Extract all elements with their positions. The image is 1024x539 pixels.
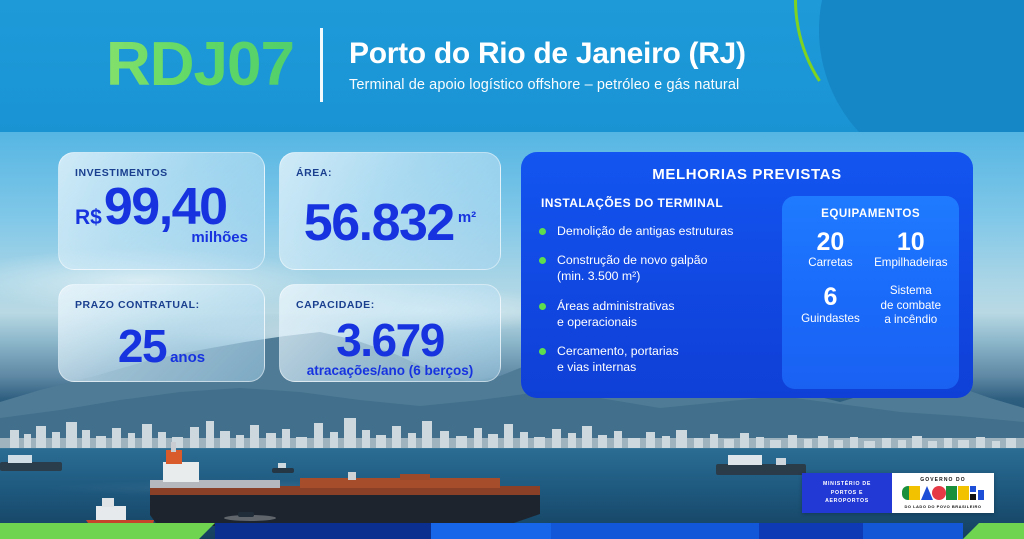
improvements-title: MELHORIAS PREVISTAS: [535, 166, 959, 183]
list-item-text: Cercamento, portariase vias internas: [557, 344, 679, 374]
ministry-logo: MINISTÉRIO DEPORTOS EAEROPORTOS: [802, 473, 892, 513]
list-item-text: Áreas administrativase operacionais: [557, 299, 675, 329]
installations-list: Demolição de antigas estruturas Construç…: [535, 223, 772, 376]
equipment-item-empilhadeiras: 10 Empilhadeiras: [871, 229, 951, 270]
strip-segment-blue-mid: [551, 523, 759, 539]
equipment-label: Carretas: [808, 256, 852, 270]
equipment-grid: 20 Carretas 10 Empilhadeiras 6 Guindaste…: [790, 229, 951, 327]
list-item: Cercamento, portariase vias internas: [535, 343, 772, 375]
stat-card-investimentos: INVESTIMENTOS R$ 99,40 milhões: [58, 152, 265, 270]
list-item-text: Demolição de antigas estruturas: [557, 224, 733, 238]
bullet-dot-icon: [539, 228, 546, 235]
bullet-dot-icon: [539, 303, 546, 310]
main-tanker: [150, 442, 540, 526]
equipment-item-guindastes: 6 Guindastes: [790, 284, 870, 326]
list-item: Áreas administrativase operacionais: [535, 298, 772, 330]
stat-value: 3.679: [336, 317, 444, 363]
stat-unit: anos: [170, 349, 205, 366]
equipment-title: EQUIPAMENTOS: [790, 207, 951, 220]
brasil-wordmark-icon: [901, 484, 985, 502]
strip-segment-navy-1: [215, 523, 431, 539]
stat-card-area: ÁREA: 56.832 m²: [279, 152, 501, 270]
equipment-item-sistema-incendio: Sistemade combatea incêndio: [871, 284, 951, 326]
stat-card-capacidade: CAPACIDADE: 3.679 atracações/ano (6 berç…: [279, 284, 501, 382]
bullet-dot-icon: [539, 348, 546, 355]
stat-footnote: atracações/ano (6 berços): [296, 363, 484, 378]
header-band: RDJ07 Porto do Rio de Janeiro (RJ) Termi…: [0, 0, 1024, 132]
equipment-label: Guindastes: [801, 312, 860, 326]
equipment-label: Sistemade combatea incêndio: [881, 284, 942, 326]
strip-segment-green-right: [963, 523, 1024, 539]
equipment-count: 10: [897, 229, 925, 255]
strip-segment-blue-right: [863, 523, 963, 539]
stat-value: 56.832: [304, 197, 454, 249]
strip-segment-blue-bright: [431, 523, 551, 539]
page-subtitle: Terminal de apoio logístico offshore – p…: [349, 77, 746, 93]
installations-subtitle: INSTALAÇÕES DO TERMINAL: [535, 196, 772, 210]
equipment-count: 20: [817, 229, 845, 255]
currency-prefix: R$: [75, 206, 102, 230]
improvements-panel: MELHORIAS PREVISTAS INSTALAÇÕES DO TERMI…: [521, 152, 973, 398]
government-logo: GOVERNO DO DO LADO DO POVO BRASILEIRO: [892, 473, 994, 513]
list-item: Demolição de antigas estruturas: [535, 223, 772, 239]
bullet-dot-icon: [539, 257, 546, 264]
header-divider: [320, 28, 323, 102]
stat-value: 99,40: [104, 181, 227, 233]
installations-column: INSTALAÇÕES DO TERMINAL Demolição de ant…: [535, 196, 772, 389]
logo-bar: MINISTÉRIO DEPORTOS EAEROPORTOS GOVERNO …: [802, 473, 994, 513]
list-item: Construção de novo galpão(min. 3.500 m²): [535, 252, 772, 284]
strip-segment-navy-2: [759, 523, 863, 539]
government-logo-bottom-text: DO LADO DO POVO BRASILEIRO: [904, 504, 981, 509]
project-code: RDJ07: [106, 34, 294, 96]
strip-segment-green-left: [0, 523, 215, 539]
equipment-card: EQUIPAMENTOS 20 Carretas 10 Empilhadeira…: [782, 196, 959, 389]
stat-label: CAPACIDADE:: [296, 299, 484, 311]
stat-unit: m²: [458, 209, 476, 226]
stats-card-grid: INVESTIMENTOS R$ 99,40 milhões ÁREA: 56.…: [58, 152, 501, 382]
stat-value: 25: [118, 323, 166, 369]
page-title: Porto do Rio de Janeiro (RJ): [349, 37, 746, 70]
stat-label: ÁREA:: [296, 167, 484, 179]
bottom-color-strip: [0, 523, 1024, 539]
equipment-item-carretas: 20 Carretas: [790, 229, 870, 270]
list-item-text: Construção de novo galpão(min. 3.500 m²): [557, 253, 707, 283]
equipment-label: Empilhadeiras: [874, 256, 947, 270]
government-logo-top-text: GOVERNO DO: [920, 477, 965, 483]
infographic-canvas: RDJ07 Porto do Rio de Janeiro (RJ) Termi…: [0, 0, 1024, 539]
header-green-arc: [766, 0, 1024, 132]
equipment-count: 6: [823, 284, 837, 310]
stat-card-prazo-contratual: PRAZO CONTRATUAL: 25 anos: [58, 284, 265, 382]
ministry-logo-text: MINISTÉRIO DEPORTOS EAEROPORTOS: [823, 480, 871, 506]
stat-label: PRAZO CONTRATUAL:: [75, 299, 248, 311]
